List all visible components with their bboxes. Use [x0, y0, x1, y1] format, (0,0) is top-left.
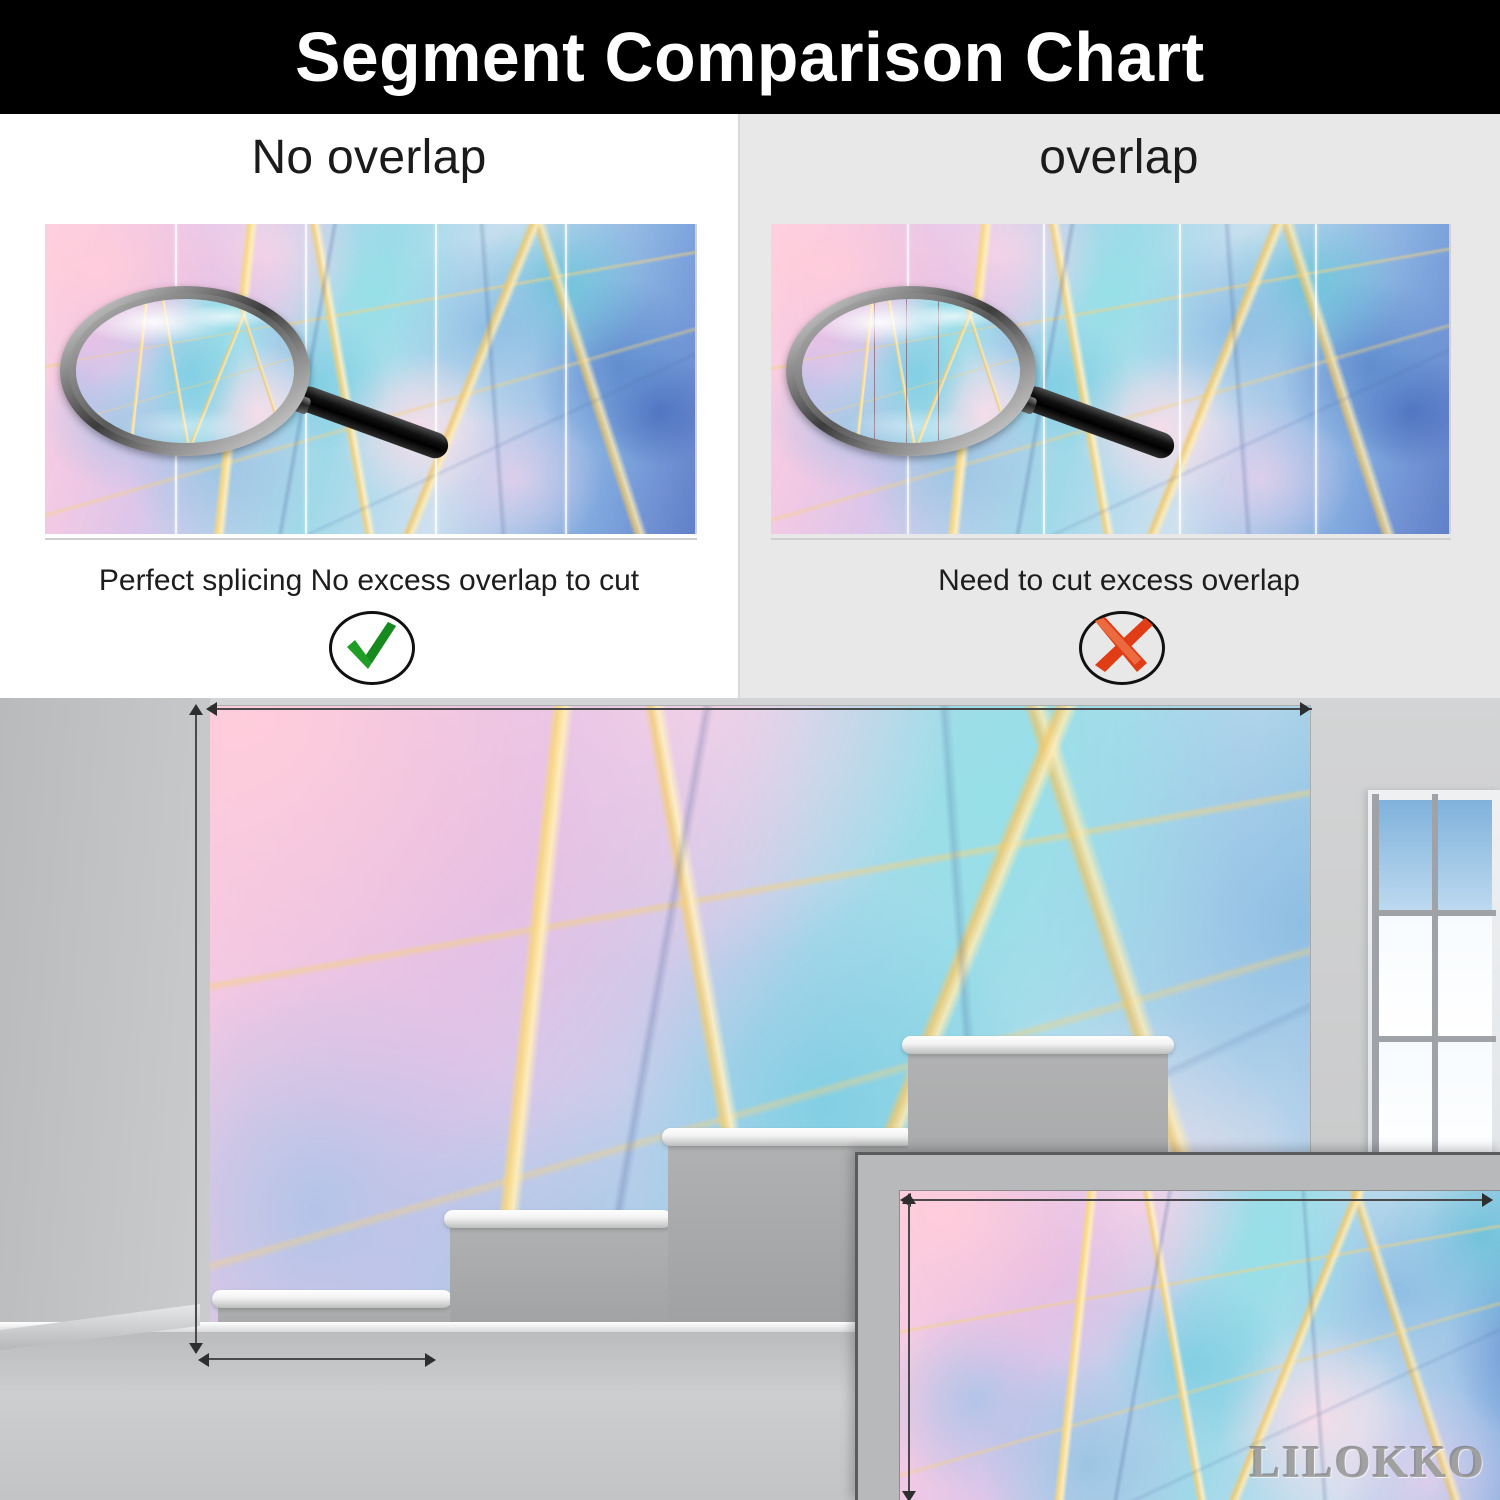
inset-dimension-line-top	[908, 1199, 1492, 1201]
segmented-mural-no-overlap	[45, 224, 697, 534]
ledge-step-1-top	[212, 1290, 452, 1308]
bottom-rule	[45, 538, 697, 540]
title-banner: Segment Comparison Chart	[0, 0, 1500, 114]
window-jamb	[1372, 794, 1379, 1188]
bottom-rule	[771, 538, 1451, 540]
check-icon	[339, 617, 401, 673]
panel-caption-overlap: Need to cut excess overlap	[738, 564, 1500, 598]
dimension-line-width	[206, 1358, 432, 1360]
cross-icon	[1085, 615, 1155, 675]
window-pane	[1438, 916, 1492, 1036]
verdict-cross	[1071, 609, 1167, 681]
window-pane	[1438, 800, 1492, 910]
window-pane	[1378, 800, 1432, 910]
watermark: LILOKKO	[1250, 1435, 1486, 1488]
dimension-arrow-right	[425, 1353, 436, 1367]
dimension-arrow-top-right	[1300, 702, 1311, 716]
dimension-arrow-top-left	[206, 702, 217, 716]
product-infographic: Segment Comparison Chart No overlap	[0, 0, 1500, 1500]
dimension-line-height	[195, 714, 197, 1352]
panel-divider	[738, 114, 740, 698]
inset-arrow-down	[902, 1491, 916, 1500]
segmented-mural-overlap	[771, 224, 1451, 534]
dimension-arrow-up	[189, 704, 203, 715]
window-mullion	[1372, 910, 1496, 916]
ledge-step-4-top	[902, 1036, 1174, 1054]
side-wall	[0, 698, 210, 1398]
page-title: Segment Comparison Chart	[295, 22, 1205, 92]
inset-arrow-up	[902, 1193, 916, 1204]
panel-overlap: overlap	[738, 114, 1500, 698]
panel-caption-no-overlap: Perfect splicing No excess overlap to cu…	[0, 564, 738, 598]
window-pane	[1378, 916, 1432, 1036]
verdict-check	[321, 609, 417, 681]
window-mullion	[1432, 794, 1438, 1188]
marble-texture	[45, 224, 697, 534]
ledge-step-2-top	[444, 1210, 672, 1228]
panel-heading-overlap: overlap	[738, 130, 1500, 185]
inset-dimension-line-left	[908, 1203, 910, 1499]
marble-texture	[771, 224, 1451, 534]
dimension-line-top	[212, 708, 1312, 710]
inset-arrow-right	[1482, 1193, 1493, 1207]
ledge-step-3-top	[662, 1128, 914, 1146]
room-window	[1368, 790, 1500, 1192]
panel-heading-no-overlap: No overlap	[0, 130, 738, 185]
dimension-arrow-left	[198, 1353, 209, 1367]
comparison-row: No overlap	[0, 114, 1500, 698]
window-mullion	[1372, 1036, 1496, 1042]
panel-no-overlap: No overlap	[0, 114, 738, 698]
room-scene: LILOKKO	[0, 698, 1500, 1500]
